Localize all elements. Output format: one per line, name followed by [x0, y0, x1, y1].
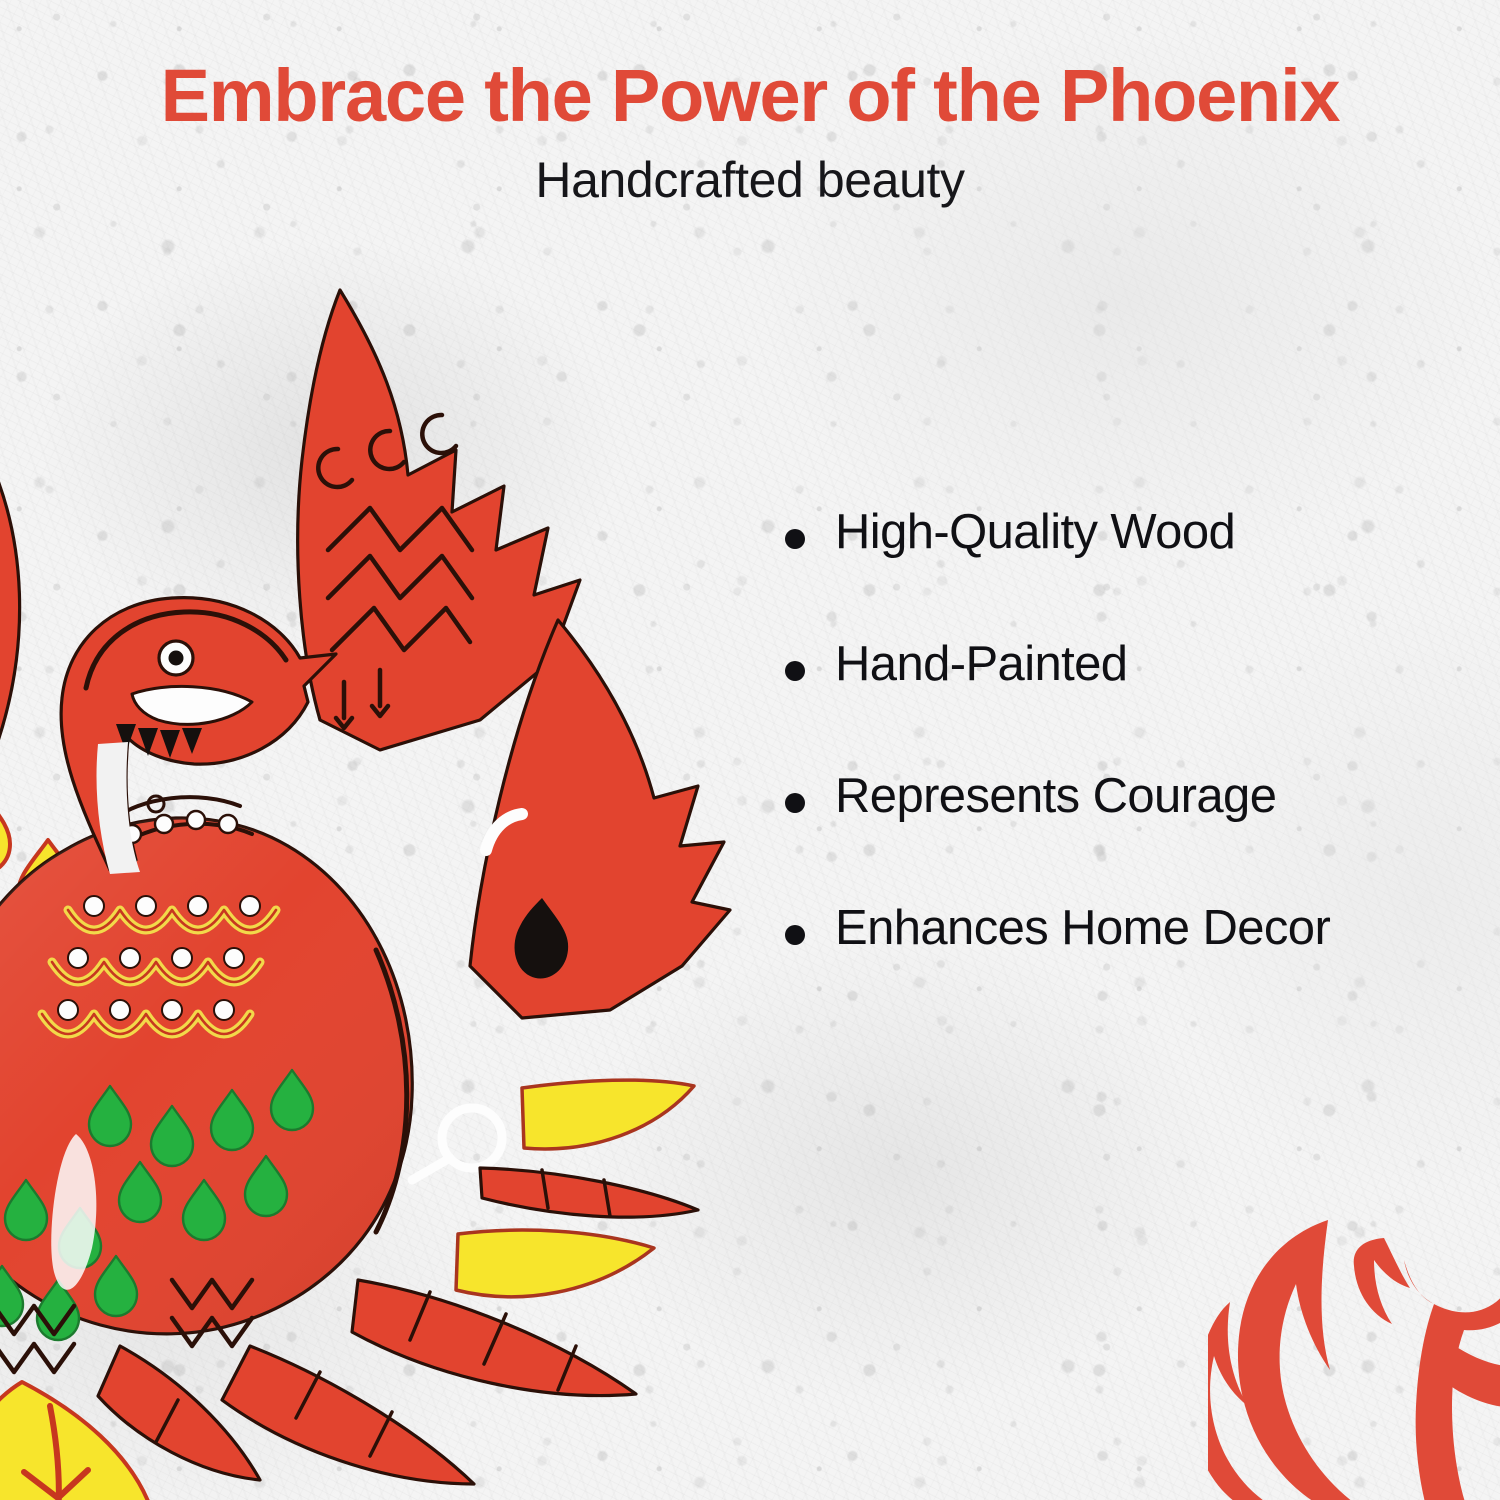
page-subtitle: Handcrafted beauty — [0, 133, 1500, 209]
list-item: Enhances Home Decor — [775, 901, 1475, 1033]
product-feature-card: Embrace the Power of the Phoenix Handcra… — [0, 0, 1500, 1500]
page-title: Embrace the Power of the Phoenix — [0, 0, 1500, 133]
phoenix-logo — [1208, 1218, 1500, 1500]
bullet-icon — [785, 793, 805, 813]
feature-label: Represents Courage — [835, 769, 1475, 824]
header: Embrace the Power of the Phoenix Handcra… — [0, 0, 1500, 209]
feature-label: Hand-Painted — [835, 637, 1475, 692]
feature-label: High-Quality Wood — [835, 505, 1475, 560]
list-item: High-Quality Wood — [775, 505, 1475, 637]
feature-label: Enhances Home Decor — [835, 901, 1475, 956]
bullet-icon — [785, 925, 805, 945]
phoenix-artwork — [0, 250, 760, 1500]
bullet-icon — [785, 529, 805, 549]
feature-list: High-Quality Wood Hand-Painted Represent… — [775, 505, 1475, 1033]
list-item: Represents Courage — [775, 769, 1475, 901]
bullet-icon — [785, 661, 805, 681]
list-item: Hand-Painted — [775, 637, 1475, 769]
